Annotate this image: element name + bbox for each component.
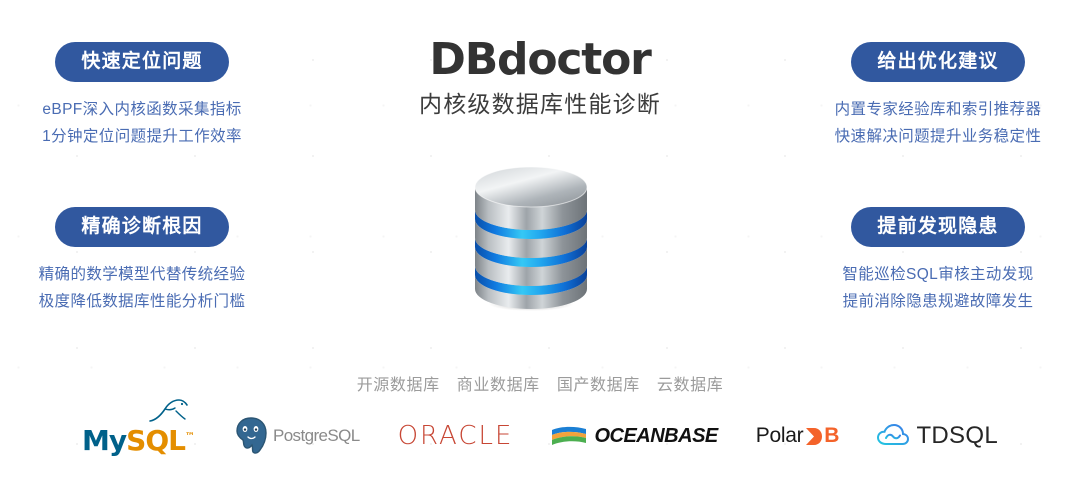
logo-oceanbase: OCEANBASE <box>551 411 717 461</box>
database-cylinder-icon <box>467 163 595 313</box>
brand-block: DBdoctor 内核级数据库性能诊断 <box>0 38 1080 116</box>
polardb-b-text: B <box>824 424 839 448</box>
feature-desc-bottom-right: 智能巡检SQL审核主动发现 提前消除隐患规避故障发生 <box>788 262 1080 315</box>
logo-postgresql: PostgreSQL <box>232 411 360 461</box>
mysql-tm: ™ <box>185 431 194 442</box>
feature-desc-line: 精确的数学模型代替传统经验 <box>0 262 292 289</box>
mysql-dolphin-icon <box>146 398 190 424</box>
postgresql-elephant-icon <box>232 416 270 456</box>
feature-desc-bottom-left: 精确的数学模型代替传统经验 极度降低数据库性能分析门槛 <box>0 262 292 315</box>
category-item: 云数据库 <box>657 377 723 394</box>
polardb-polar-text: Polar <box>756 424 804 448</box>
oracle-wordmark: ORACLE <box>398 421 514 451</box>
feature-bottom-left: 精确诊断根因 精确的数学模型代替传统经验 极度降低数据库性能分析门槛 <box>0 207 292 315</box>
brand-title: DBdoctor <box>0 38 1080 82</box>
tdsql-wordmark: TDSQL <box>916 422 998 450</box>
oceanbase-flag-icon <box>551 425 587 447</box>
oceanbase-wordmark: OCEANBASE <box>594 425 717 448</box>
logo-tdsql: TDSQL <box>877 411 998 461</box>
logo-polardb: Polar B <box>756 411 840 461</box>
feature-desc-line: 提前消除隐患规避故障发生 <box>788 289 1080 316</box>
feature-bottom-right: 提前发现隐患 智能巡检SQL审核主动发现 提前消除隐患规避故障发生 <box>788 207 1080 315</box>
category-list: 开源数据库 商业数据库 国产数据库 云数据库 <box>0 371 1080 395</box>
polardb-d-mark-icon <box>804 426 823 447</box>
poster-stage: 快速定位问题 eBPF深入内核函数采集指标 1分钟定位问题提升工作效率 精确诊断… <box>0 0 1080 477</box>
feature-desc-line: 1分钟定位问题提升工作效率 <box>0 124 292 151</box>
brand-tagline: 内核级数据库性能诊断 <box>0 93 1080 116</box>
feature-badge-bottom-right[interactable]: 提前发现隐患 <box>851 207 1024 247</box>
logo-mysql: MySQL™ <box>82 407 194 465</box>
logo-strip: MySQL™ PostgreSQL ORACLE <box>0 408 1080 464</box>
mysql-my-text: My <box>82 424 126 457</box>
feature-desc-line: 极度降低数据库性能分析门槛 <box>0 289 292 316</box>
tdsql-cloud-icon <box>877 423 909 449</box>
category-item: 商业数据库 <box>457 377 540 394</box>
postgresql-wordmark: PostgreSQL <box>273 426 360 446</box>
mysql-wordmark: MySQL™ <box>82 424 194 457</box>
feature-badge-bottom-left[interactable]: 精确诊断根因 <box>55 207 228 247</box>
mysql-sql-text: SQL <box>126 424 185 457</box>
feature-desc-line: 智能巡检SQL审核主动发现 <box>788 262 1080 289</box>
category-item: 国产数据库 <box>557 377 640 394</box>
category-item: 开源数据库 <box>357 377 440 394</box>
logo-oracle: ORACLE <box>398 411 514 461</box>
feature-desc-line: 快速解决问题提升业务稳定性 <box>788 124 1080 151</box>
